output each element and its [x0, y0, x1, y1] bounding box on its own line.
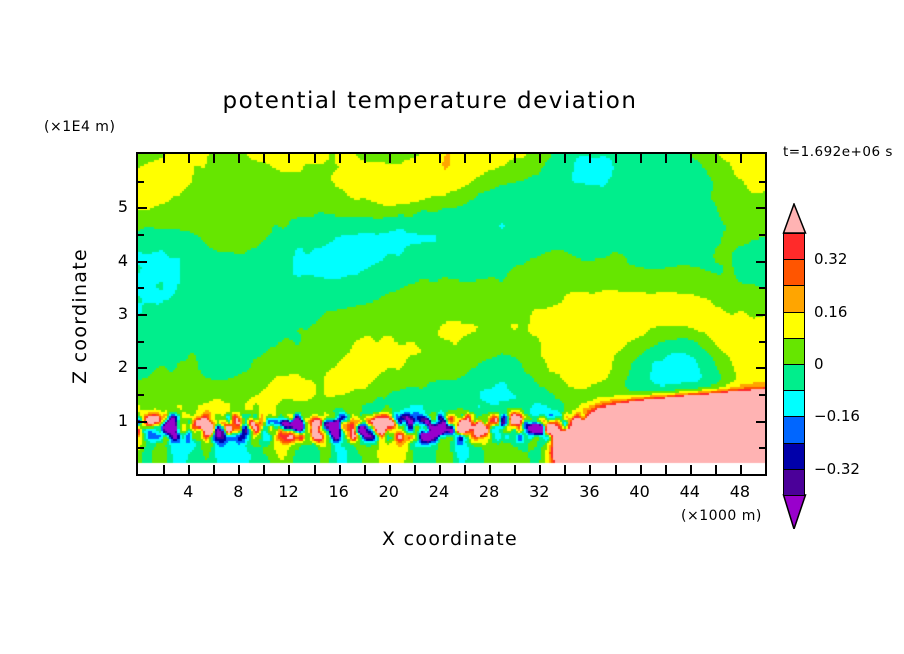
tick-mark — [464, 465, 466, 474]
contour-figure: potential temperature deviation (×1E4 m)… — [0, 0, 904, 654]
colorbar-band — [783, 364, 805, 392]
tick-mark — [163, 465, 165, 474]
colorbar-tick-label: 0.16 — [814, 303, 847, 321]
tick-mark — [690, 154, 692, 163]
x-tick-label: 16 — [319, 482, 359, 501]
x-tick-label: 36 — [569, 482, 609, 501]
tick-mark — [288, 465, 290, 474]
tick-mark — [138, 234, 144, 236]
colorbar-tick-label: 0.32 — [814, 250, 847, 268]
tick-mark — [589, 154, 591, 163]
tick-mark — [640, 465, 642, 474]
tick-mark — [756, 261, 765, 263]
tick-mark — [389, 154, 391, 163]
colorbar-band — [783, 312, 805, 340]
z-unit-label: (×1E4 m) — [44, 119, 115, 135]
tick-mark — [263, 465, 265, 474]
tick-mark — [389, 465, 391, 474]
tick-mark — [138, 314, 147, 316]
tick-mark — [364, 465, 366, 474]
tick-mark — [439, 154, 441, 163]
tick-mark — [759, 394, 765, 396]
x-tick-label: 28 — [469, 482, 509, 501]
x-tick-label: 8 — [218, 482, 258, 501]
colorbar-band — [783, 285, 805, 313]
colorbar-tick-label: −0.32 — [814, 460, 860, 478]
tick-mark — [288, 154, 290, 163]
plot-area — [136, 152, 767, 476]
contour-field — [138, 154, 765, 474]
tick-mark — [138, 181, 144, 183]
colorbar — [781, 203, 809, 529]
tick-mark — [263, 154, 265, 163]
x-tick-label: 44 — [670, 482, 710, 501]
tick-mark — [138, 394, 144, 396]
y-tick-label: 5 — [98, 197, 128, 216]
tick-mark — [138, 287, 144, 289]
colorbar-tick-label: 0 — [814, 355, 824, 373]
x-tick-label: 12 — [268, 482, 308, 501]
colorbar-over-arrow — [784, 204, 806, 233]
tick-mark — [464, 154, 466, 163]
tick-mark — [514, 154, 516, 163]
y-tick-label: 4 — [98, 251, 128, 270]
tick-mark — [759, 234, 765, 236]
y-tick-label: 3 — [98, 304, 128, 323]
tick-mark — [665, 154, 667, 163]
colorbar-tick-label: −0.16 — [814, 407, 860, 425]
tick-mark — [514, 465, 516, 474]
tick-mark — [163, 154, 165, 163]
tick-mark — [759, 181, 765, 183]
tick-mark — [213, 154, 215, 163]
tick-mark — [690, 465, 692, 474]
tick-mark — [339, 465, 341, 474]
x-unit-label: (×1000 m) — [681, 508, 762, 524]
colorbar-band — [783, 233, 805, 261]
tick-mark — [756, 207, 765, 209]
tick-mark — [414, 154, 416, 163]
tick-mark — [564, 154, 566, 163]
tick-mark — [759, 287, 765, 289]
tick-mark — [414, 465, 416, 474]
x-axis-title: X coordinate — [136, 528, 764, 550]
x-tick-label: 4 — [168, 482, 208, 501]
tick-mark — [314, 465, 316, 474]
tick-mark — [615, 465, 617, 474]
tick-mark — [138, 261, 147, 263]
tick-mark — [740, 465, 742, 474]
x-tick-label: 48 — [720, 482, 760, 501]
tick-mark — [589, 465, 591, 474]
tick-mark — [439, 465, 441, 474]
x-tick-label: 40 — [620, 482, 660, 501]
tick-mark — [759, 447, 765, 449]
colorbar-band — [783, 443, 805, 471]
time-stamp-label: t=1.692e+06 s — [783, 144, 893, 160]
colorbar-band — [783, 338, 805, 366]
y-axis-title: Z coordinate — [69, 206, 91, 426]
x-tick-label: 32 — [519, 482, 559, 501]
tick-mark — [539, 154, 541, 163]
colorbar-band — [783, 416, 805, 444]
colorbar-band — [783, 390, 805, 418]
tick-mark — [564, 465, 566, 474]
colorbar-band — [783, 469, 805, 497]
tick-mark — [615, 154, 617, 163]
tick-mark — [138, 447, 144, 449]
tick-mark — [188, 154, 190, 163]
tick-mark — [138, 341, 144, 343]
tick-mark — [138, 421, 147, 423]
tick-mark — [489, 154, 491, 163]
tick-mark — [188, 465, 190, 474]
tick-mark — [756, 314, 765, 316]
tick-mark — [314, 154, 316, 163]
tick-mark — [640, 154, 642, 163]
tick-mark — [213, 465, 215, 474]
tick-mark — [756, 367, 765, 369]
tick-mark — [238, 154, 240, 163]
page-title: potential temperature deviation — [0, 88, 860, 114]
tick-mark — [138, 207, 147, 209]
tick-mark — [715, 465, 717, 474]
tick-mark — [740, 154, 742, 163]
tick-mark — [665, 465, 667, 474]
y-tick-label: 2 — [98, 357, 128, 376]
tick-mark — [756, 421, 765, 423]
tick-mark — [489, 465, 491, 474]
tick-mark — [238, 465, 240, 474]
tick-mark — [138, 367, 147, 369]
colorbar-under-arrow — [784, 495, 806, 529]
tick-mark — [339, 154, 341, 163]
x-tick-label: 24 — [419, 482, 459, 501]
tick-mark — [364, 154, 366, 163]
x-tick-label: 20 — [369, 482, 409, 501]
y-tick-label: 1 — [98, 411, 128, 430]
tick-mark — [759, 341, 765, 343]
tick-mark — [715, 154, 717, 163]
tick-mark — [539, 465, 541, 474]
colorbar-band — [783, 259, 805, 287]
